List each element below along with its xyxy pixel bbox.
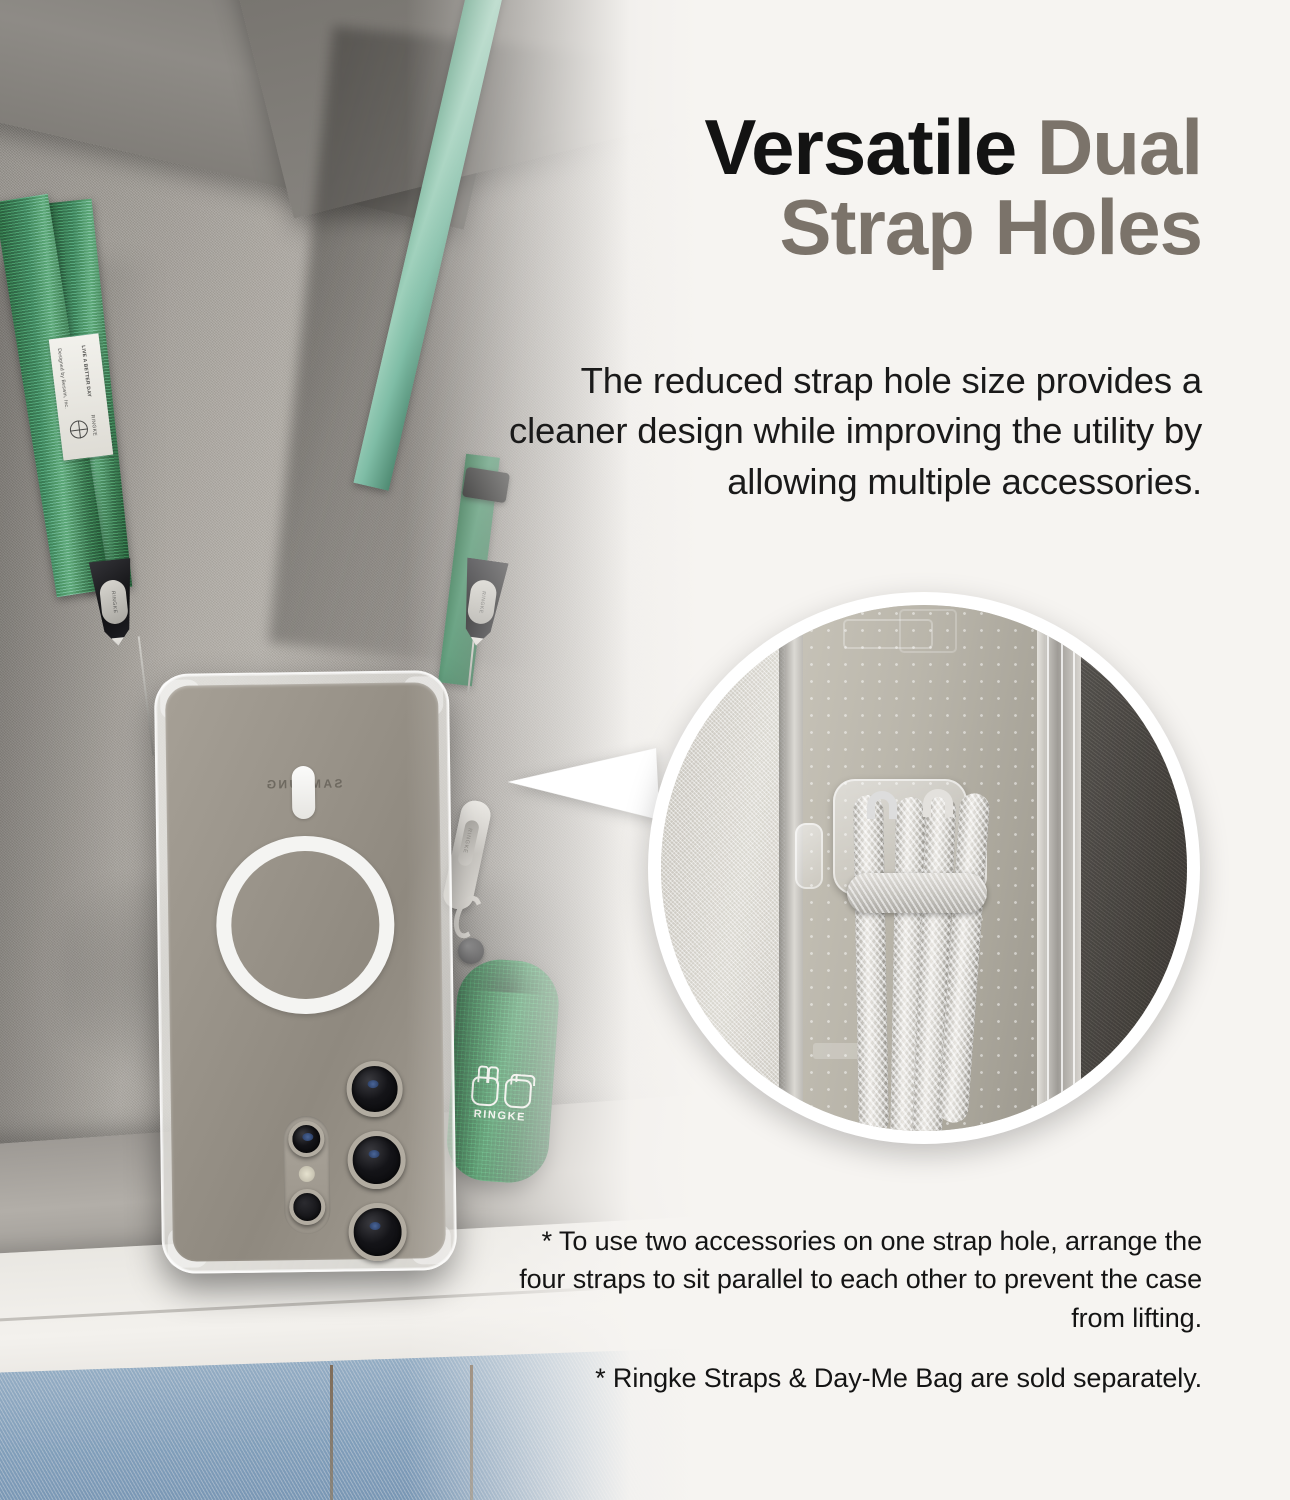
- strap-hole-closeup-inset: [648, 592, 1200, 1144]
- inset-rail-line: [1073, 605, 1075, 1131]
- marketing-banner: Designed by Beswin, Inc. LIVE A BETTER D…: [0, 0, 1290, 1500]
- clip-brand-text: RINGKE: [110, 590, 118, 613]
- camera-lens: [346, 1061, 403, 1118]
- footnote-two: * Ringke Straps & Day-Me Bag are sold se…: [502, 1363, 1202, 1394]
- globe-icon: [69, 419, 89, 439]
- headline-word-dual: Dual: [1037, 103, 1202, 191]
- care-label-text-left: Designed by Beswin, Inc.: [56, 348, 69, 409]
- inset-case-rail: [1037, 605, 1083, 1131]
- care-label-text-right: LIVE A BETTER DAY: [80, 345, 92, 397]
- inset-dark-texture: [1081, 605, 1187, 1131]
- inset-rail-line: [1061, 605, 1063, 1131]
- strap-hole-tab-left: [795, 823, 823, 889]
- clip-brand-plate: RINGKE: [99, 579, 129, 625]
- headline-word-versatile: Versatile: [704, 103, 1016, 191]
- inset-rail-line: [1047, 605, 1049, 1131]
- headline-line-1: Versatile Dual: [482, 108, 1202, 188]
- magnet-pill: [291, 766, 315, 819]
- cord-knot: [847, 873, 987, 913]
- inset-dark-background: [1081, 605, 1187, 1131]
- cord-loop: [923, 789, 953, 817]
- denim-seam: [330, 1365, 333, 1500]
- page-title: Versatile Dual Strap Holes: [482, 108, 1202, 267]
- camera-lens: [348, 1203, 407, 1262]
- inset-ghost-marking: [899, 609, 957, 653]
- cord-loop: [867, 791, 897, 819]
- inset-fabric-background: [661, 605, 785, 1131]
- flash-icon: [299, 1166, 315, 1182]
- footnote-one: * To use two accessories on one strap ho…: [502, 1222, 1202, 1337]
- headline-line-2: Strap Holes: [482, 188, 1202, 268]
- description-text: The reduced strap hole size provides a c…: [502, 356, 1202, 507]
- phone-back-panel: SAMSUNG: [165, 682, 446, 1262]
- phone-with-clear-case: SAMSUNG: [154, 670, 457, 1274]
- inset-photo: [661, 605, 1187, 1131]
- strap-cord: [853, 795, 889, 1131]
- care-label-brand: RINGKE: [89, 414, 98, 436]
- camera-lens: [347, 1131, 406, 1190]
- inset-fabric-texture: [661, 605, 785, 1131]
- magsafe-ring: [215, 835, 395, 1015]
